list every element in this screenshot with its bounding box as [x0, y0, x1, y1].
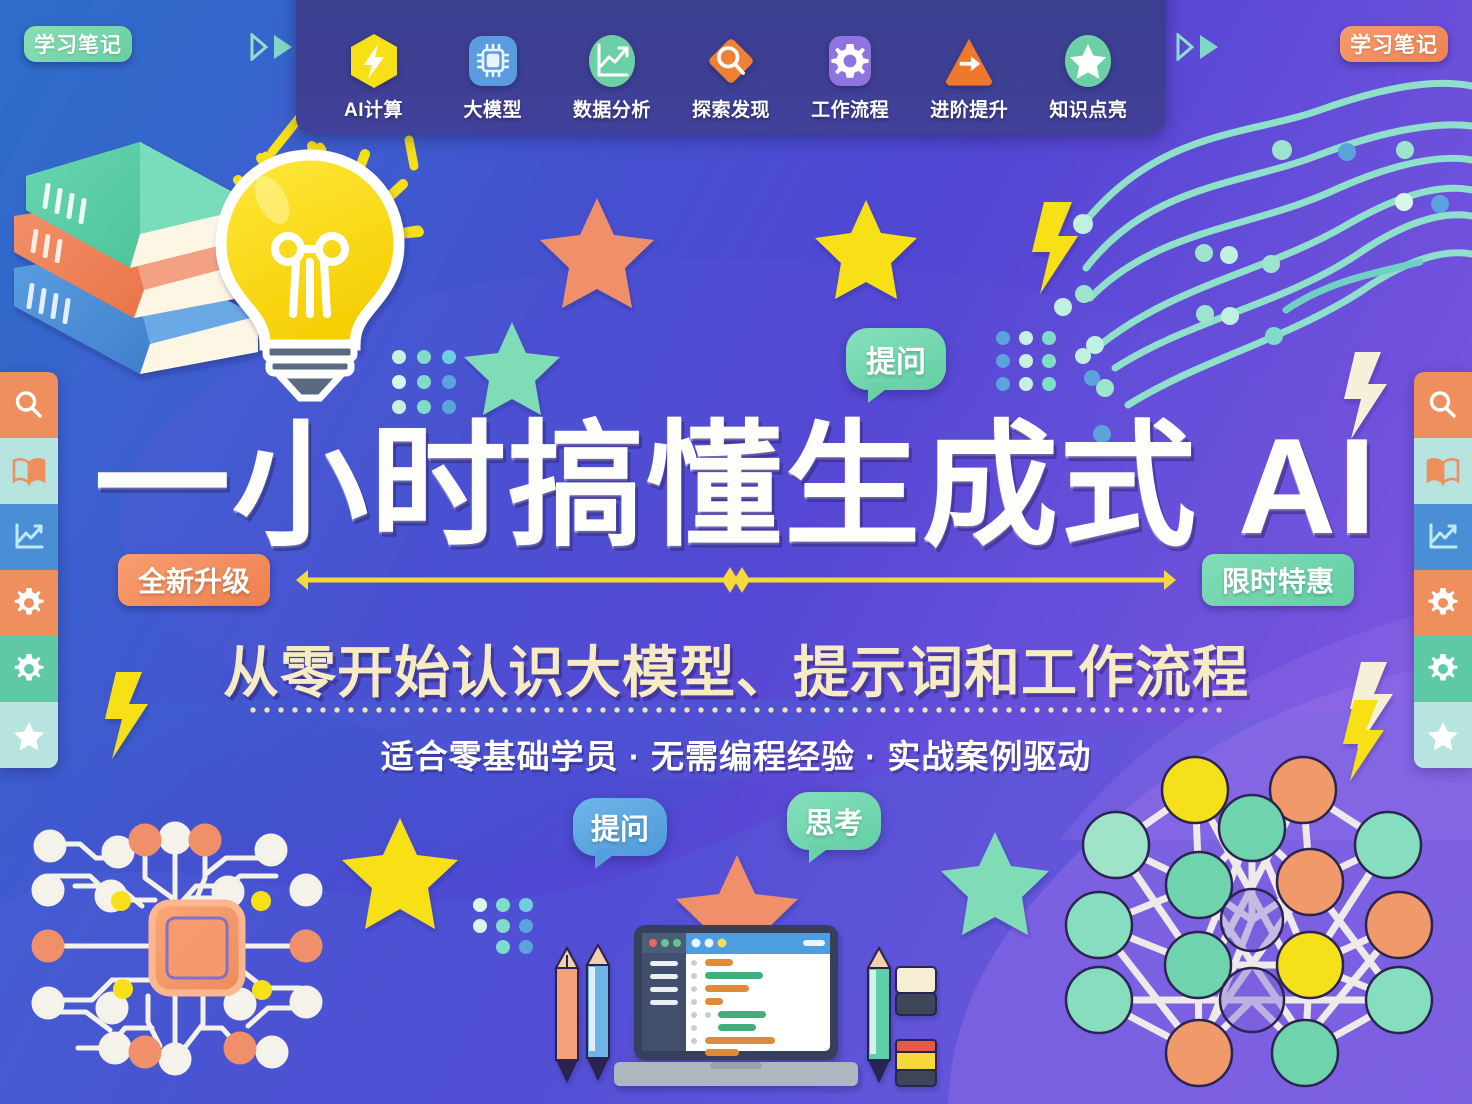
nav-label: AI计算: [344, 95, 403, 122]
nav-label: 进阶提升: [930, 95, 1008, 122]
nav-item-data-analysis[interactable]: 数据分析: [562, 34, 662, 122]
nav-label: 知识点亮: [1049, 95, 1127, 122]
star-icon: [1062, 34, 1114, 88]
lightning-bolt-icon: [348, 34, 400, 88]
poster-canvas: 学习笔记 学习笔记 AI计算: [0, 0, 1472, 1104]
nav-item-knowledge[interactable]: 知识点亮: [1038, 34, 1138, 122]
tag-row: 全新升级 限时特惠: [0, 556, 1472, 604]
search-icon: [13, 389, 45, 421]
chevron-right-icon-left: [250, 33, 296, 61]
arrow-right-icon: [943, 34, 995, 88]
badge-left[interactable]: 学习笔记: [24, 26, 132, 62]
tag-limited-offer[interactable]: 限时特惠: [1202, 554, 1354, 606]
nav-item-advance[interactable]: 进阶提升: [919, 34, 1019, 122]
speech-bubble-think[interactable]: 思考: [787, 792, 881, 850]
magnifier-icon: [705, 34, 757, 88]
page-title: 一小时搞懂生成式 AI: [0, 418, 1472, 554]
search-icon: [1427, 389, 1459, 421]
top-nav-panel: AI计算 大模型: [296, 0, 1166, 134]
nav-label: 数据分析: [573, 95, 651, 122]
dotted-divider: [246, 706, 1226, 714]
badge-right[interactable]: 学习笔记: [1340, 26, 1448, 62]
tag-new-upgrade[interactable]: 全新升级: [118, 554, 270, 606]
trend-chart-icon: [586, 34, 638, 88]
nav-label: 探索发现: [692, 95, 770, 122]
chevron-right-icon-right: [1176, 33, 1222, 61]
nav-item-explore[interactable]: 探索发现: [681, 34, 781, 122]
speech-bubble-ask-bottom[interactable]: 提问: [573, 798, 667, 856]
nav-item-workflow[interactable]: 工作流程: [800, 34, 900, 122]
chip-icon: [467, 34, 519, 88]
nav-label: 大模型: [463, 95, 522, 122]
nav-item-ai-compute[interactable]: AI计算: [324, 34, 424, 122]
gear-icon: [824, 34, 876, 88]
page-tagline: 适合零基础学员 · 无需编程经验 · 实战案例驱动: [0, 730, 1472, 778]
nav-item-large-model[interactable]: 大模型: [443, 34, 543, 122]
page-subtitle: 从零开始认识大模型、提示词和工作流程: [0, 628, 1472, 709]
nav-label: 工作流程: [811, 95, 889, 122]
speech-bubble-ask-top[interactable]: 提问: [846, 328, 946, 390]
decor-divider: [286, 566, 1186, 594]
